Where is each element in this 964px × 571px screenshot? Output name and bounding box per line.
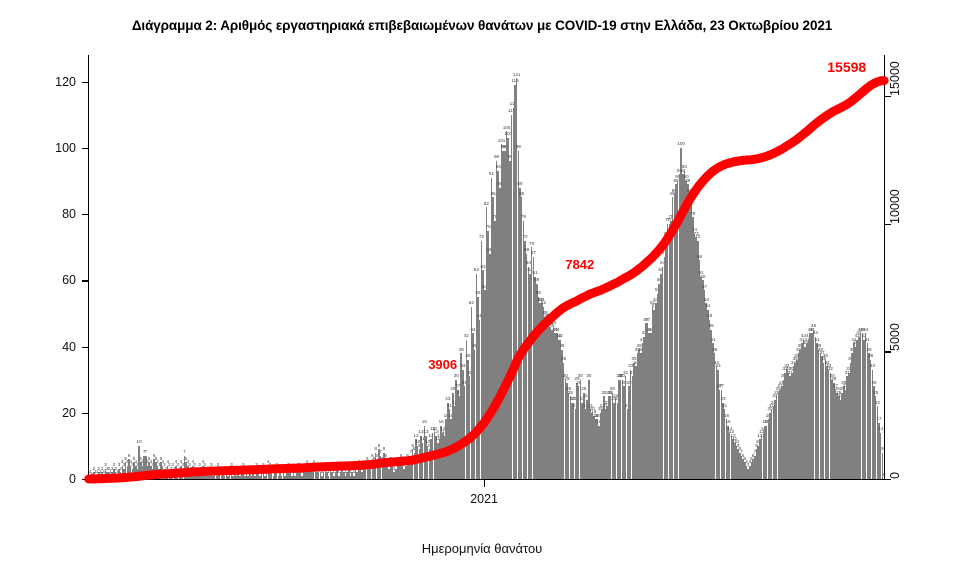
y-tick-label-right: 0 bbox=[888, 472, 902, 479]
y-tick-label-right: 15000 bbox=[888, 61, 902, 96]
y-tick-label-left: 60 bbox=[34, 273, 76, 287]
y-tick-label-right: 10000 bbox=[888, 189, 902, 224]
y-tick-label-left: 40 bbox=[34, 340, 76, 354]
chart-figure: Διάγραμμα 2: Αριθμός εργαστηριακά επιβεβ… bbox=[0, 0, 964, 571]
x-tick-label: 2021 bbox=[470, 492, 498, 506]
cumulative-annotation: 7842 bbox=[565, 257, 594, 272]
y-tick-right bbox=[885, 351, 891, 352]
page-title: Διάγραμμα 2: Αριθμός εργαστηριακά επιβεβ… bbox=[0, 18, 964, 33]
plot-area: 1102112121322123213243546435431054774543… bbox=[88, 55, 885, 479]
y-tick-label-right: 5000 bbox=[888, 323, 902, 351]
y-tick-label-left: 0 bbox=[34, 472, 76, 486]
y-tick-right bbox=[885, 479, 891, 480]
cumulative-deaths-line bbox=[88, 55, 885, 479]
y-tick-right bbox=[885, 96, 891, 97]
cumulative-annotation: 3906 bbox=[428, 357, 457, 372]
y-tick-label-left: 120 bbox=[34, 75, 76, 89]
x-tick bbox=[484, 480, 485, 487]
cumulative-line-path bbox=[89, 81, 884, 479]
y-tick-label-left: 100 bbox=[34, 141, 76, 155]
y-tick-label-left: 80 bbox=[34, 207, 76, 221]
x-axis-title: Ημερομηνία θανάτου bbox=[0, 541, 964, 556]
cumulative-annotation: 15598 bbox=[827, 59, 866, 75]
x-axis-line bbox=[88, 479, 886, 480]
y-tick-label-left: 20 bbox=[34, 406, 76, 420]
